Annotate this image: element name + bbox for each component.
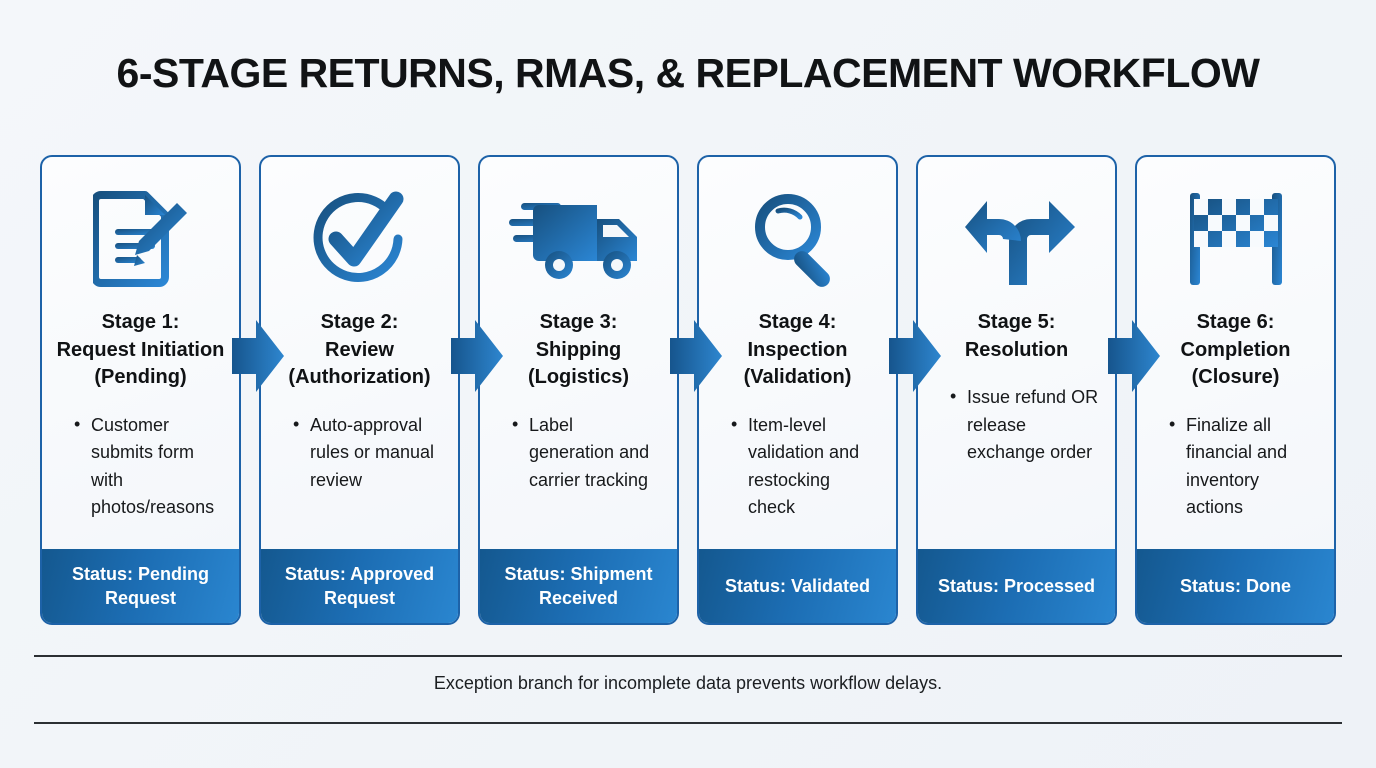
stage-card-1[interactable]: Stage 1: Request Initiation (Pending) Cu…	[40, 155, 241, 625]
stage-bullet-1: Customer submits form with photos/reason…	[74, 412, 223, 521]
delivery-truck-icon	[490, 185, 667, 293]
stage-bullet-4: Item-level validation and restocking che…	[731, 412, 880, 521]
stage-heading-3: Stage 3: Shipping (Logistics)	[490, 309, 667, 392]
stage-card-body-1: Stage 1: Request Initiation (Pending) Cu…	[42, 157, 239, 549]
status-badge-1: Status: Pending Request	[42, 549, 239, 623]
status-badge-3: Status: Shipment Received	[480, 549, 677, 623]
workflow-diagram: 6-Stage Returns, RMAs, & Replacement Wor…	[0, 0, 1376, 768]
stage-heading-6: Stage 6: Completion (Closure)	[1147, 309, 1324, 392]
stage-card-strip: Stage 1: Request Initiation (Pending) Cu…	[40, 155, 1336, 625]
stage-bullets-3: Label generation and carrier tracking	[490, 412, 667, 494]
stage-bullets-2: Auto-approval rules or manual review	[271, 412, 448, 494]
stage-heading-4: Stage 4: Inspection (Validation)	[709, 309, 886, 392]
magnifying-glass-icon	[709, 185, 886, 293]
fork-arrows-icon	[928, 185, 1105, 293]
stage-card-2[interactable]: Stage 2: Review (Authorization) Auto-app…	[259, 155, 460, 625]
stage-bullet-5: Issue refund OR release exchange order	[950, 384, 1099, 466]
stage-card-body-5: Stage 5: Resolution Issue refund OR rele…	[918, 157, 1115, 549]
stage-card-3[interactable]: Stage 3: Shipping (Logistics) Label gene…	[478, 155, 679, 625]
stage-card-body-3: Stage 3: Shipping (Logistics) Label gene…	[480, 157, 677, 549]
status-badge-6: Status: Done	[1137, 549, 1334, 623]
stage-bullets-6: Finalize all financial and inventory act…	[1147, 412, 1324, 521]
footer-divider-bottom	[34, 722, 1342, 724]
stage-heading-2: Stage 2: Review (Authorization)	[271, 309, 448, 392]
footer-note: Exception branch for incomplete data pre…	[0, 673, 1376, 694]
stage-card-5[interactable]: Stage 5: Resolution Issue refund OR rele…	[916, 155, 1117, 625]
footer-divider-top	[34, 655, 1342, 657]
check-circle-icon	[271, 185, 448, 293]
stage-card-body-4: Stage 4: Inspection (Validation) Item-le…	[699, 157, 896, 549]
stage-card-6[interactable]: Stage 6: Completion (Closure) Finalize a…	[1135, 155, 1336, 625]
page-title: 6-Stage Returns, RMAs, & Replacement Wor…	[0, 50, 1376, 97]
stage-bullets-5: Issue refund OR release exchange order	[928, 384, 1105, 466]
stage-bullets-1: Customer submits form with photos/reason…	[52, 412, 229, 521]
stage-card-body-2: Stage 2: Review (Authorization) Auto-app…	[261, 157, 458, 549]
status-badge-2: Status: Approved Request	[261, 549, 458, 623]
status-badge-4: Status: Validated	[699, 549, 896, 623]
checkered-flag-icon	[1147, 185, 1324, 293]
stage-bullet-6: Finalize all financial and inventory act…	[1169, 412, 1318, 521]
stage-bullet-2: Auto-approval rules or manual review	[293, 412, 442, 494]
stage-heading-5: Stage 5: Resolution	[928, 309, 1105, 364]
stage-card-body-6: Stage 6: Completion (Closure) Finalize a…	[1137, 157, 1334, 549]
status-badge-5: Status: Processed	[918, 549, 1115, 623]
stage-card-4[interactable]: Stage 4: Inspection (Validation) Item-le…	[697, 155, 898, 625]
stage-bullets-4: Item-level validation and restocking che…	[709, 412, 886, 521]
stage-bullet-3: Label generation and carrier tracking	[512, 412, 661, 494]
stage-heading-1: Stage 1: Request Initiation (Pending)	[52, 309, 229, 392]
document-pencil-icon	[52, 185, 229, 293]
